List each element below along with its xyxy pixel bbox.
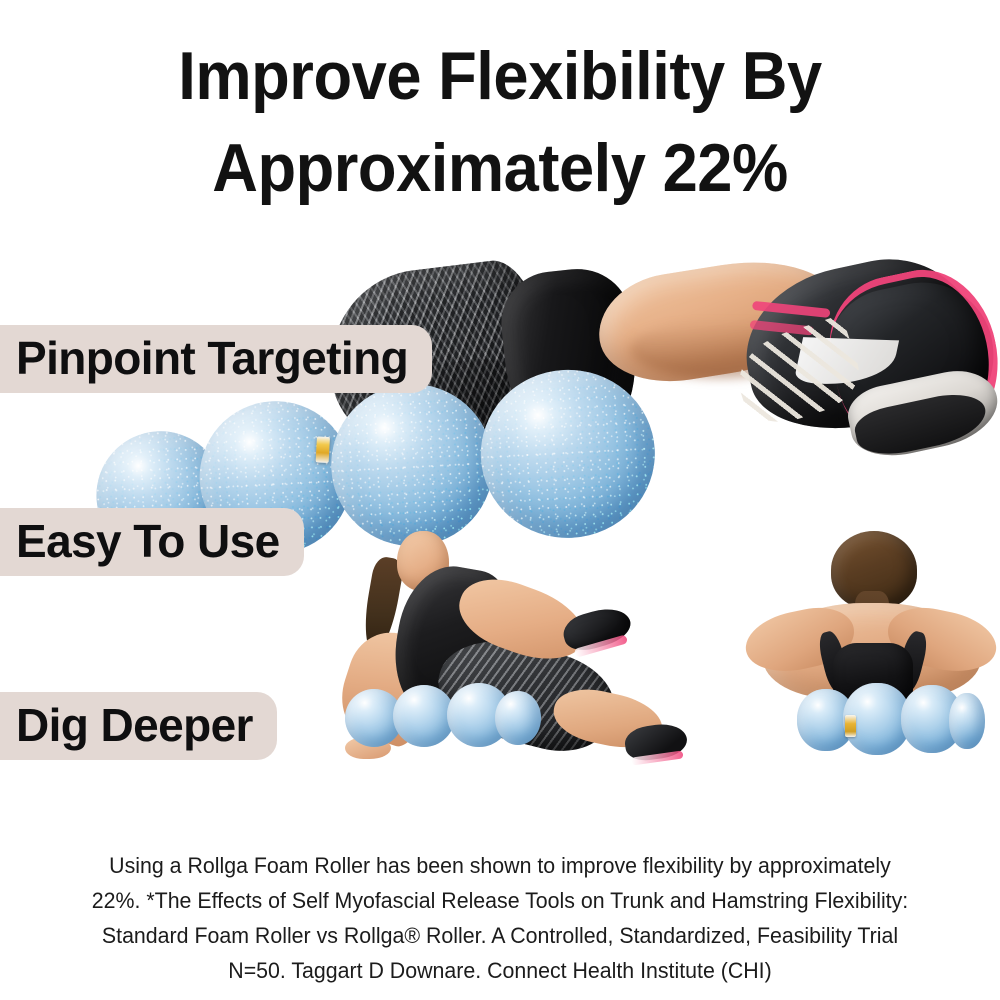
footnote-line-2: 22%. *The Effects of Self Myofascial Rel… xyxy=(15,883,985,918)
foam-roller xyxy=(345,683,527,747)
footnote-line-3: Standard Foam Roller vs Rollga® Roller. … xyxy=(15,918,985,953)
headline-line-1: Improve Flexibility By xyxy=(35,30,965,122)
page-title: Improve Flexibility By Approximately 22% xyxy=(35,30,965,214)
woman-seated-rolling-hip-photo xyxy=(345,515,685,785)
feature-badge-dig-deeper: Dig Deeper xyxy=(0,692,277,760)
headline-line-2: Approximately 22% xyxy=(35,122,965,214)
rollga-brand-tag xyxy=(845,715,856,737)
rollga-brand-tag xyxy=(316,436,330,463)
footnote-line-4: N=50. Taggart D Downare. Connect Health … xyxy=(15,953,985,988)
feature-badge-easy-to-use: Easy To Use xyxy=(0,508,304,576)
woman-rolling-upper-back-photo xyxy=(745,525,995,775)
citation-footnote: Using a Rollga Foam Roller has been show… xyxy=(15,848,985,988)
roller-lobe xyxy=(949,693,985,749)
foam-roller xyxy=(797,683,982,755)
feature-badge-label: Pinpoint Targeting xyxy=(16,335,408,381)
footnote-line-1: Using a Rollga Foam Roller has been show… xyxy=(15,848,985,883)
roller-lobe xyxy=(393,685,455,747)
feature-badge-label: Dig Deeper xyxy=(16,702,253,748)
roller-lobe xyxy=(495,691,541,745)
feature-badge-label: Easy To Use xyxy=(16,518,280,564)
feature-badge-pinpoint-targeting: Pinpoint Targeting xyxy=(0,325,432,393)
